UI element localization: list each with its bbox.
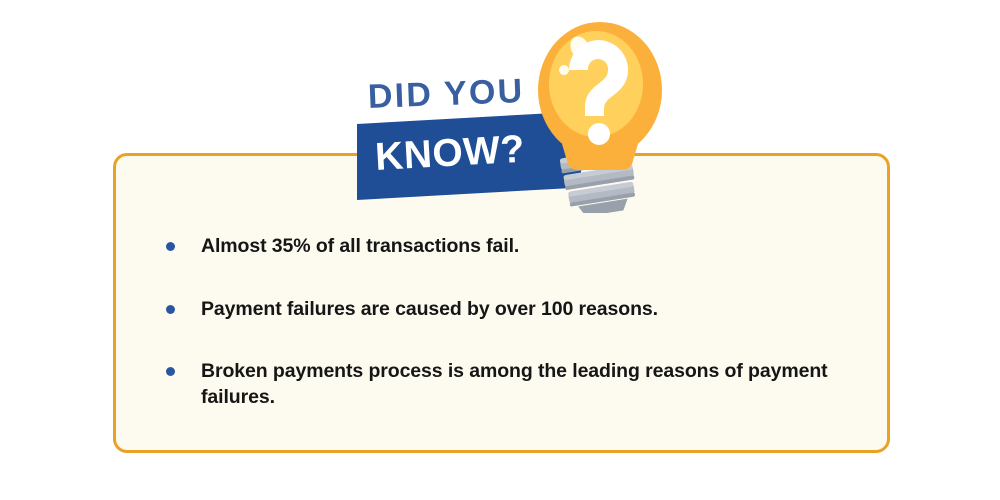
list-item: Payment failures are caused by over 100 … [164, 297, 854, 323]
did-you-know-infographic: Almost 35% of all transactions fail. Pay… [0, 0, 1000, 500]
bullet-text: Payment failures are caused by over 100 … [201, 298, 658, 320]
list-item: Broken payments process is among the lea… [164, 359, 854, 410]
bullet-dot-icon [166, 305, 175, 314]
headline-line-did-you: DID YOU [367, 72, 525, 117]
fact-card: Almost 35% of all transactions fail. Pay… [113, 153, 890, 453]
bullet-text: Broken payments process is among the lea… [201, 360, 828, 408]
list-item: Almost 35% of all transactions fail. [164, 234, 854, 260]
fact-bullet-list: Almost 35% of all transactions fail. Pay… [164, 234, 854, 411]
lightbulb-icon [536, 18, 666, 213]
bullet-dot-icon [166, 367, 175, 376]
bullet-text: Almost 35% of all transactions fail. [201, 235, 519, 257]
bullet-dot-icon [166, 242, 175, 251]
